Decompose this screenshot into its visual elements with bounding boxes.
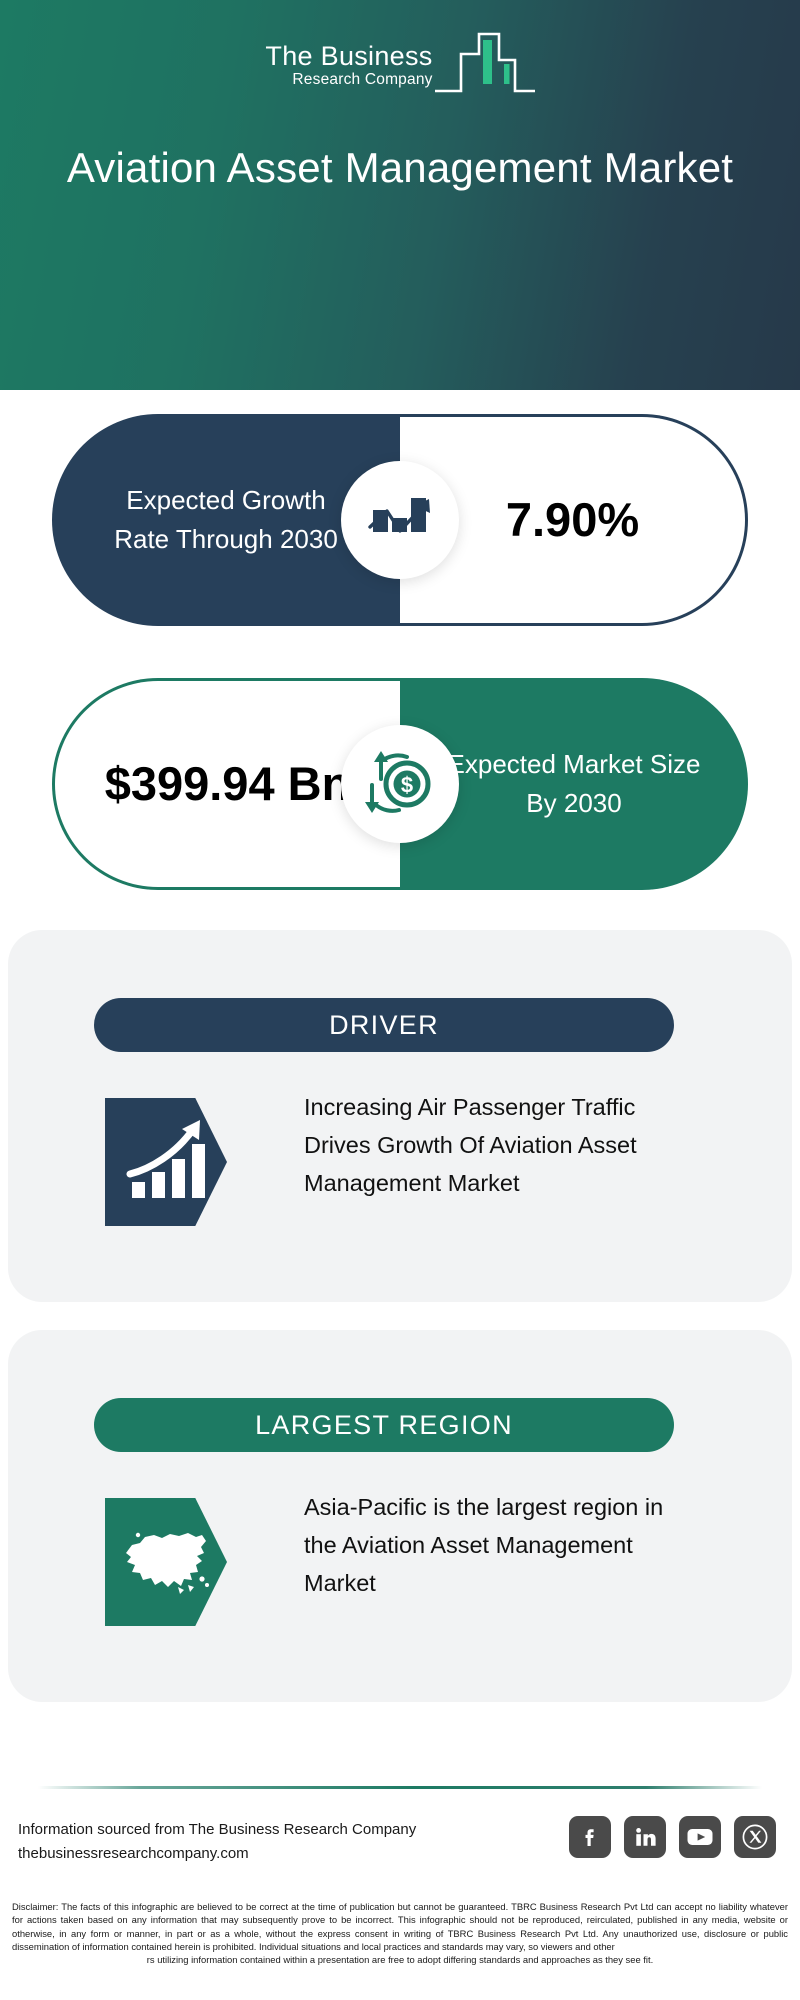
disclaimer-text: Disclaimer: The facts of this infographi… bbox=[12, 1900, 788, 1967]
company-logo: The Business Research Company bbox=[0, 28, 800, 103]
driver-panel: DRIVER Increasing Air Passenger Traffic … bbox=[8, 930, 792, 1302]
disclaimer-main: Disclaimer: The facts of this infographi… bbox=[12, 1901, 788, 1952]
market-size-badge: $ bbox=[341, 725, 459, 843]
driver-icon-shape bbox=[105, 1098, 227, 1226]
logo-line-1: The Business bbox=[265, 42, 432, 70]
header-banner: The Business Research Company Aviation A… bbox=[0, 0, 800, 390]
asia-map-icon bbox=[118, 1523, 214, 1602]
growth-bars-arrow-icon bbox=[120, 1114, 212, 1211]
market-size-card: $399.94 Bn Expected Market Size By 2030 … bbox=[52, 678, 748, 890]
logo-bar-chart-icon bbox=[435, 30, 535, 103]
source-attribution: Information sourced from The Business Re… bbox=[18, 1818, 488, 1866]
source-website[interactable]: thebusinessresearchcompany.com bbox=[18, 1842, 488, 1866]
growth-rate-card: Expected Growth Rate Through 2030 7.90% bbox=[52, 414, 748, 626]
region-panel: LARGEST REGION Asia-Pacific is the large… bbox=[8, 1330, 792, 1702]
dollar-refresh-icon: $ bbox=[363, 747, 437, 822]
growth-rate-badge bbox=[341, 461, 459, 579]
source-line-1: Information sourced from The Business Re… bbox=[18, 1818, 488, 1842]
region-body-text: Asia-Pacific is the largest region in th… bbox=[304, 1488, 690, 1602]
x-twitter-icon[interactable] bbox=[734, 1816, 776, 1858]
driver-heading: DRIVER bbox=[94, 998, 674, 1052]
footer-divider bbox=[38, 1786, 762, 1789]
bar-chart-growth-icon bbox=[363, 486, 437, 555]
region-heading: LARGEST REGION bbox=[94, 1398, 674, 1452]
driver-body-text: Increasing Air Passenger Traffic Drives … bbox=[304, 1088, 690, 1202]
infographic-page: The Business Research Company Aviation A… bbox=[0, 0, 800, 2000]
facebook-icon[interactable] bbox=[569, 1816, 611, 1858]
linkedin-icon[interactable] bbox=[624, 1816, 666, 1858]
logo-line-2: Research Company bbox=[292, 70, 432, 89]
disclaimer-last-line: rs utilizing information contained withi… bbox=[12, 1953, 788, 1966]
youtube-icon[interactable] bbox=[679, 1816, 721, 1858]
page-title: Aviation Asset Management Market bbox=[50, 142, 750, 195]
svg-text:$: $ bbox=[401, 772, 413, 797]
logo-wordmark: The Business Research Company bbox=[265, 42, 432, 90]
social-links bbox=[569, 1816, 776, 1858]
region-icon-shape bbox=[105, 1498, 227, 1626]
